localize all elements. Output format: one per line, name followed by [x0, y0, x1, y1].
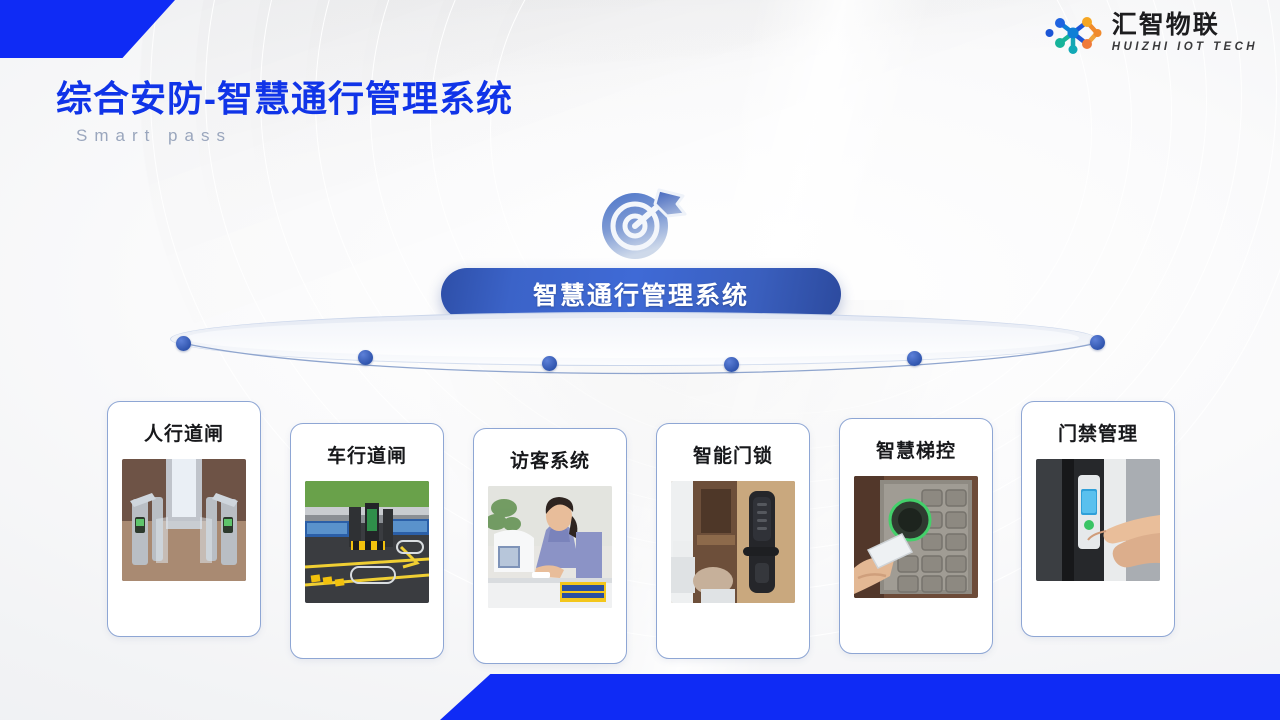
- category-card-title: 智能门锁: [693, 441, 773, 468]
- category-card-title: 智慧梯控: [876, 436, 956, 463]
- connector-node-1: [176, 336, 191, 351]
- category-card-2[interactable]: 车行道闸: [290, 423, 444, 659]
- connector-node-2: [358, 350, 373, 365]
- vehicle-barrier-gate-photo: [305, 481, 429, 603]
- category-card-5[interactable]: 智慧梯控: [839, 418, 993, 654]
- page-title: 综合安防-智慧通行管理系统: [56, 70, 513, 122]
- category-card-3[interactable]: 访客系统: [473, 428, 627, 664]
- target-dart-icon: [591, 184, 691, 262]
- category-card-1[interactable]: 人行道闸: [107, 401, 261, 637]
- category-card-4[interactable]: 智能门锁: [656, 423, 810, 659]
- category-card-title: 访客系统: [510, 446, 590, 473]
- connector-curve: [160, 322, 1120, 382]
- page-subtitle: Smart pass: [76, 126, 232, 146]
- brand-logo: 汇智物联 HUIZHI IOT TECH: [1045, 11, 1258, 55]
- category-card-6[interactable]: 门禁管理: [1021, 401, 1175, 637]
- elevator-card-reader-photo: [854, 476, 978, 598]
- system-title-badge-label: 智慧通行管理系统: [533, 276, 749, 312]
- smart-door-lock-photo: [671, 481, 795, 603]
- connector-node-5: [907, 351, 922, 366]
- connector-node-6: [1090, 335, 1105, 350]
- access-control-fingerprint-photo: [1036, 459, 1160, 581]
- pedestrian-turnstile-photo: [122, 459, 246, 581]
- bottom-right-accent-shape: [440, 674, 1280, 720]
- category-card-title: 门禁管理: [1058, 419, 1138, 446]
- brand-name-en: HUIZHI IOT TECH: [1112, 42, 1258, 54]
- slide-root: 综合安防-智慧通行管理系统 Smart pass: [0, 0, 1280, 720]
- connector-node-4: [724, 357, 739, 372]
- brand-name-cn: 汇智物联: [1112, 12, 1258, 37]
- category-card-title: 车行道闸: [327, 441, 407, 468]
- category-card-title: 人行道闸: [144, 419, 224, 446]
- visitor-reception-photo: [488, 486, 612, 608]
- connector-node-3: [542, 356, 557, 371]
- brand-logo-text: 汇智物联 HUIZHI IOT TECH: [1112, 12, 1258, 54]
- molecule-network-logo-icon: [1045, 11, 1103, 55]
